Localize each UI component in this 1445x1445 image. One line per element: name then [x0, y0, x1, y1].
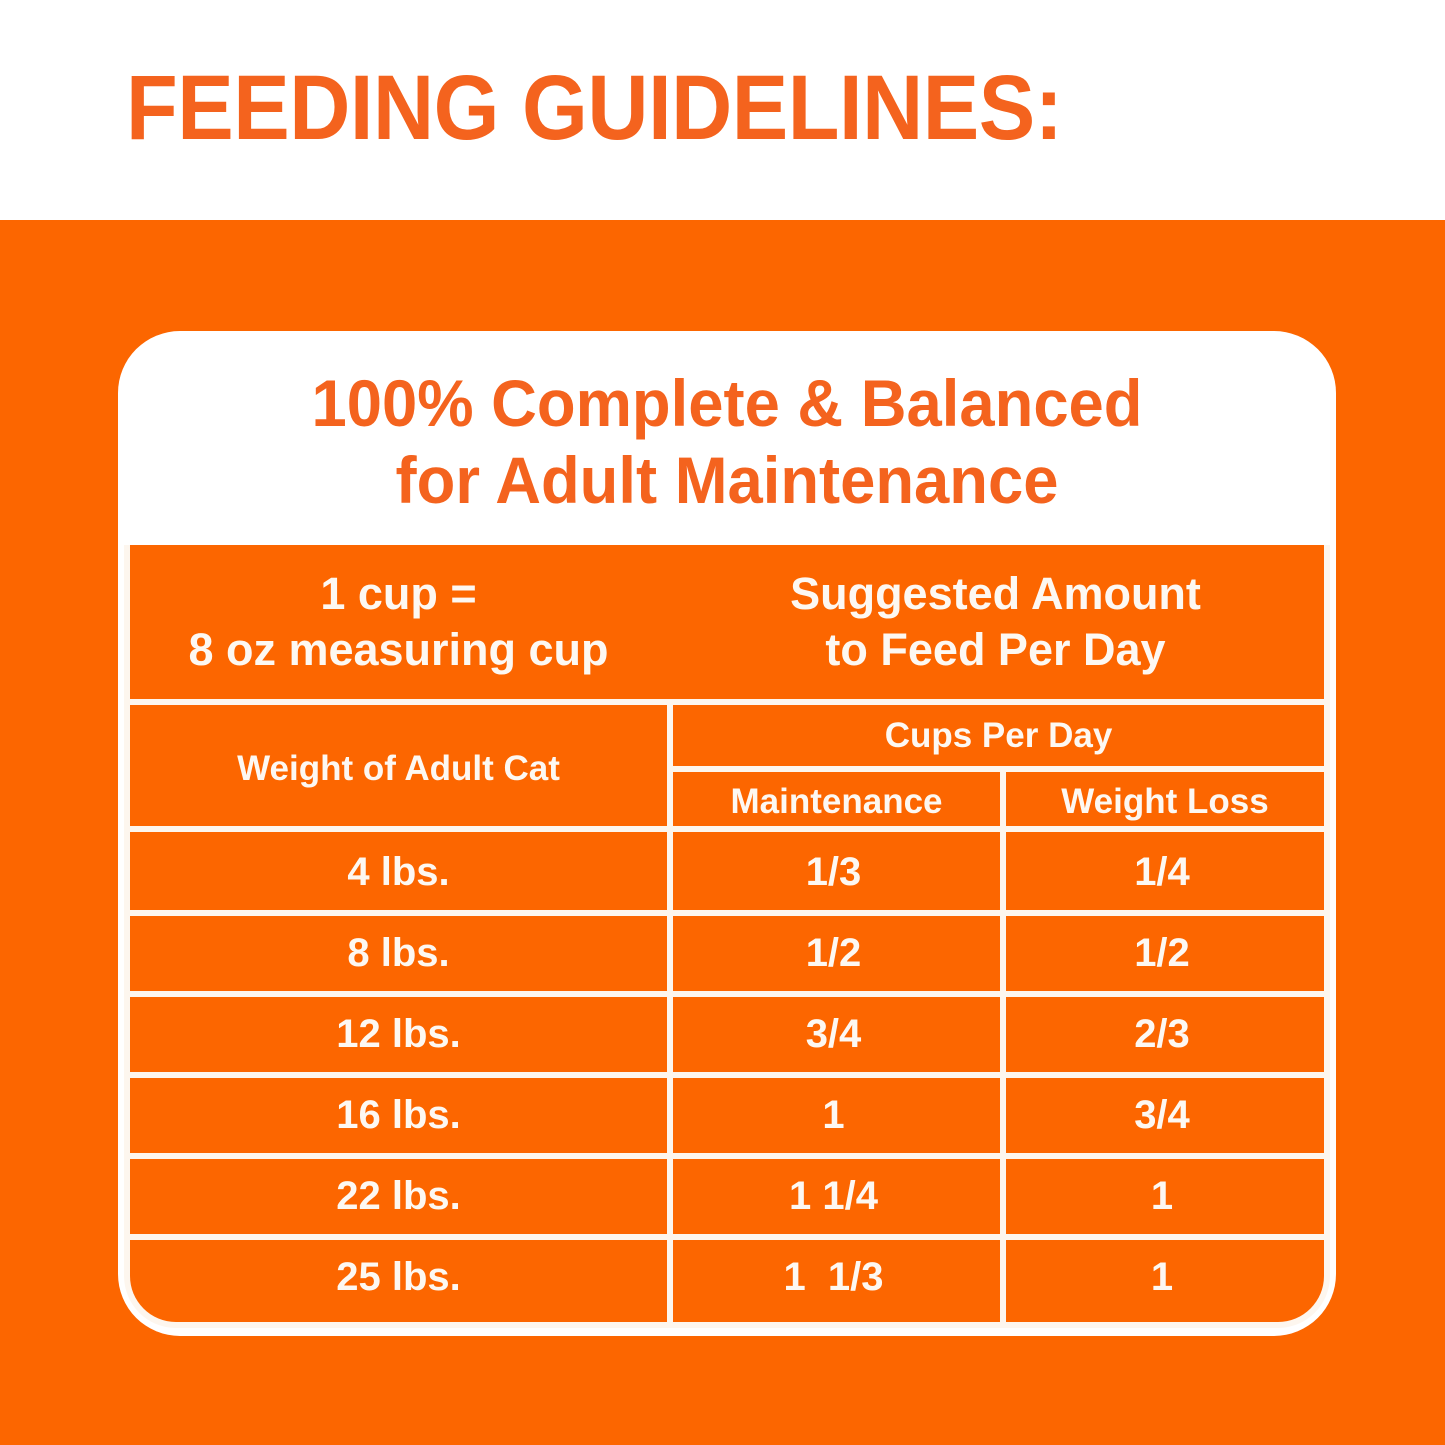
column-header-maintenance: Maintenance	[673, 772, 1000, 832]
cell-maintenance: 1 1/4	[667, 1156, 1000, 1237]
feeding-table: 1 cup = 8 oz measuring cup Suggested Amo…	[124, 545, 1330, 1328]
cup-definition-line-1: 1 cup =	[188, 566, 608, 622]
card-heading-line-1: 100% Complete & Balanced	[142, 365, 1311, 442]
cup-definition-line-2: 8 oz measuring cup	[188, 622, 608, 678]
table-row: 8 lbs.1/21/2	[130, 913, 1324, 994]
cell-weight-loss: 1/2	[1000, 913, 1324, 994]
cell-maintenance: 1 1/3	[667, 1237, 1000, 1318]
cup-definition-cell: 1 cup = 8 oz measuring cup	[130, 545, 667, 699]
feeding-guidelines-panel: FEEDING GUIDELINES: 100% Complete & Bala…	[0, 0, 1445, 1445]
table-top-band: 1 cup = 8 oz measuring cup Suggested Amo…	[130, 545, 1324, 699]
column-header-weight: Weight of Adult Cat	[130, 705, 667, 832]
column-group-header-cups-per-day: Cups Per Day	[673, 705, 1324, 766]
suggested-amount-line-2: to Feed Per Day	[790, 622, 1201, 678]
card-heading: 100% Complete & Balanced for Adult Maint…	[142, 365, 1311, 519]
page-title: FEEDING GUIDELINES:	[126, 56, 1062, 160]
cell-maintenance: 1/2	[667, 913, 1000, 994]
cell-weight: 22 lbs.	[130, 1156, 667, 1237]
cell-weight: 8 lbs.	[130, 913, 667, 994]
cell-weight: 12 lbs.	[130, 994, 667, 1075]
cell-maintenance: 1	[667, 1075, 1000, 1156]
cell-weight-loss: 1/4	[1000, 832, 1324, 913]
divider-under-cups-per-day	[673, 766, 1324, 772]
header-band: FEEDING GUIDELINES:	[0, 0, 1445, 220]
cell-weight: 4 lbs.	[130, 832, 667, 913]
cell-maintenance: 3/4	[667, 994, 1000, 1075]
cell-maintenance: 1/3	[667, 832, 1000, 913]
table-row: 12 lbs.3/42/3	[130, 994, 1324, 1075]
cell-weight-loss: 1	[1000, 1237, 1324, 1318]
column-header-weight-loss: Weight Loss	[1006, 772, 1324, 832]
suggested-amount-line-1: Suggested Amount	[790, 566, 1201, 622]
table-row: 25 lbs.1 1/31	[130, 1237, 1324, 1318]
card-heading-line-2: for Adult Maintenance	[142, 442, 1311, 519]
cell-weight: 16 lbs.	[130, 1075, 667, 1156]
table-row: 4 lbs.1/31/4	[130, 832, 1324, 913]
suggested-amount-cell: Suggested Amount to Feed Per Day	[667, 545, 1324, 699]
guidelines-card: 100% Complete & Balanced for Adult Maint…	[118, 331, 1336, 1336]
cell-weight-loss: 3/4	[1000, 1075, 1324, 1156]
cell-weight-loss: 2/3	[1000, 994, 1324, 1075]
table-body: 4 lbs.1/31/48 lbs.1/21/212 lbs.3/42/316 …	[130, 832, 1324, 1318]
table-row: 16 lbs.13/4	[130, 1075, 1324, 1156]
cell-weight-loss: 1	[1000, 1156, 1324, 1237]
table-row: 22 lbs.1 1/41	[130, 1156, 1324, 1237]
cell-weight: 25 lbs.	[130, 1237, 667, 1318]
